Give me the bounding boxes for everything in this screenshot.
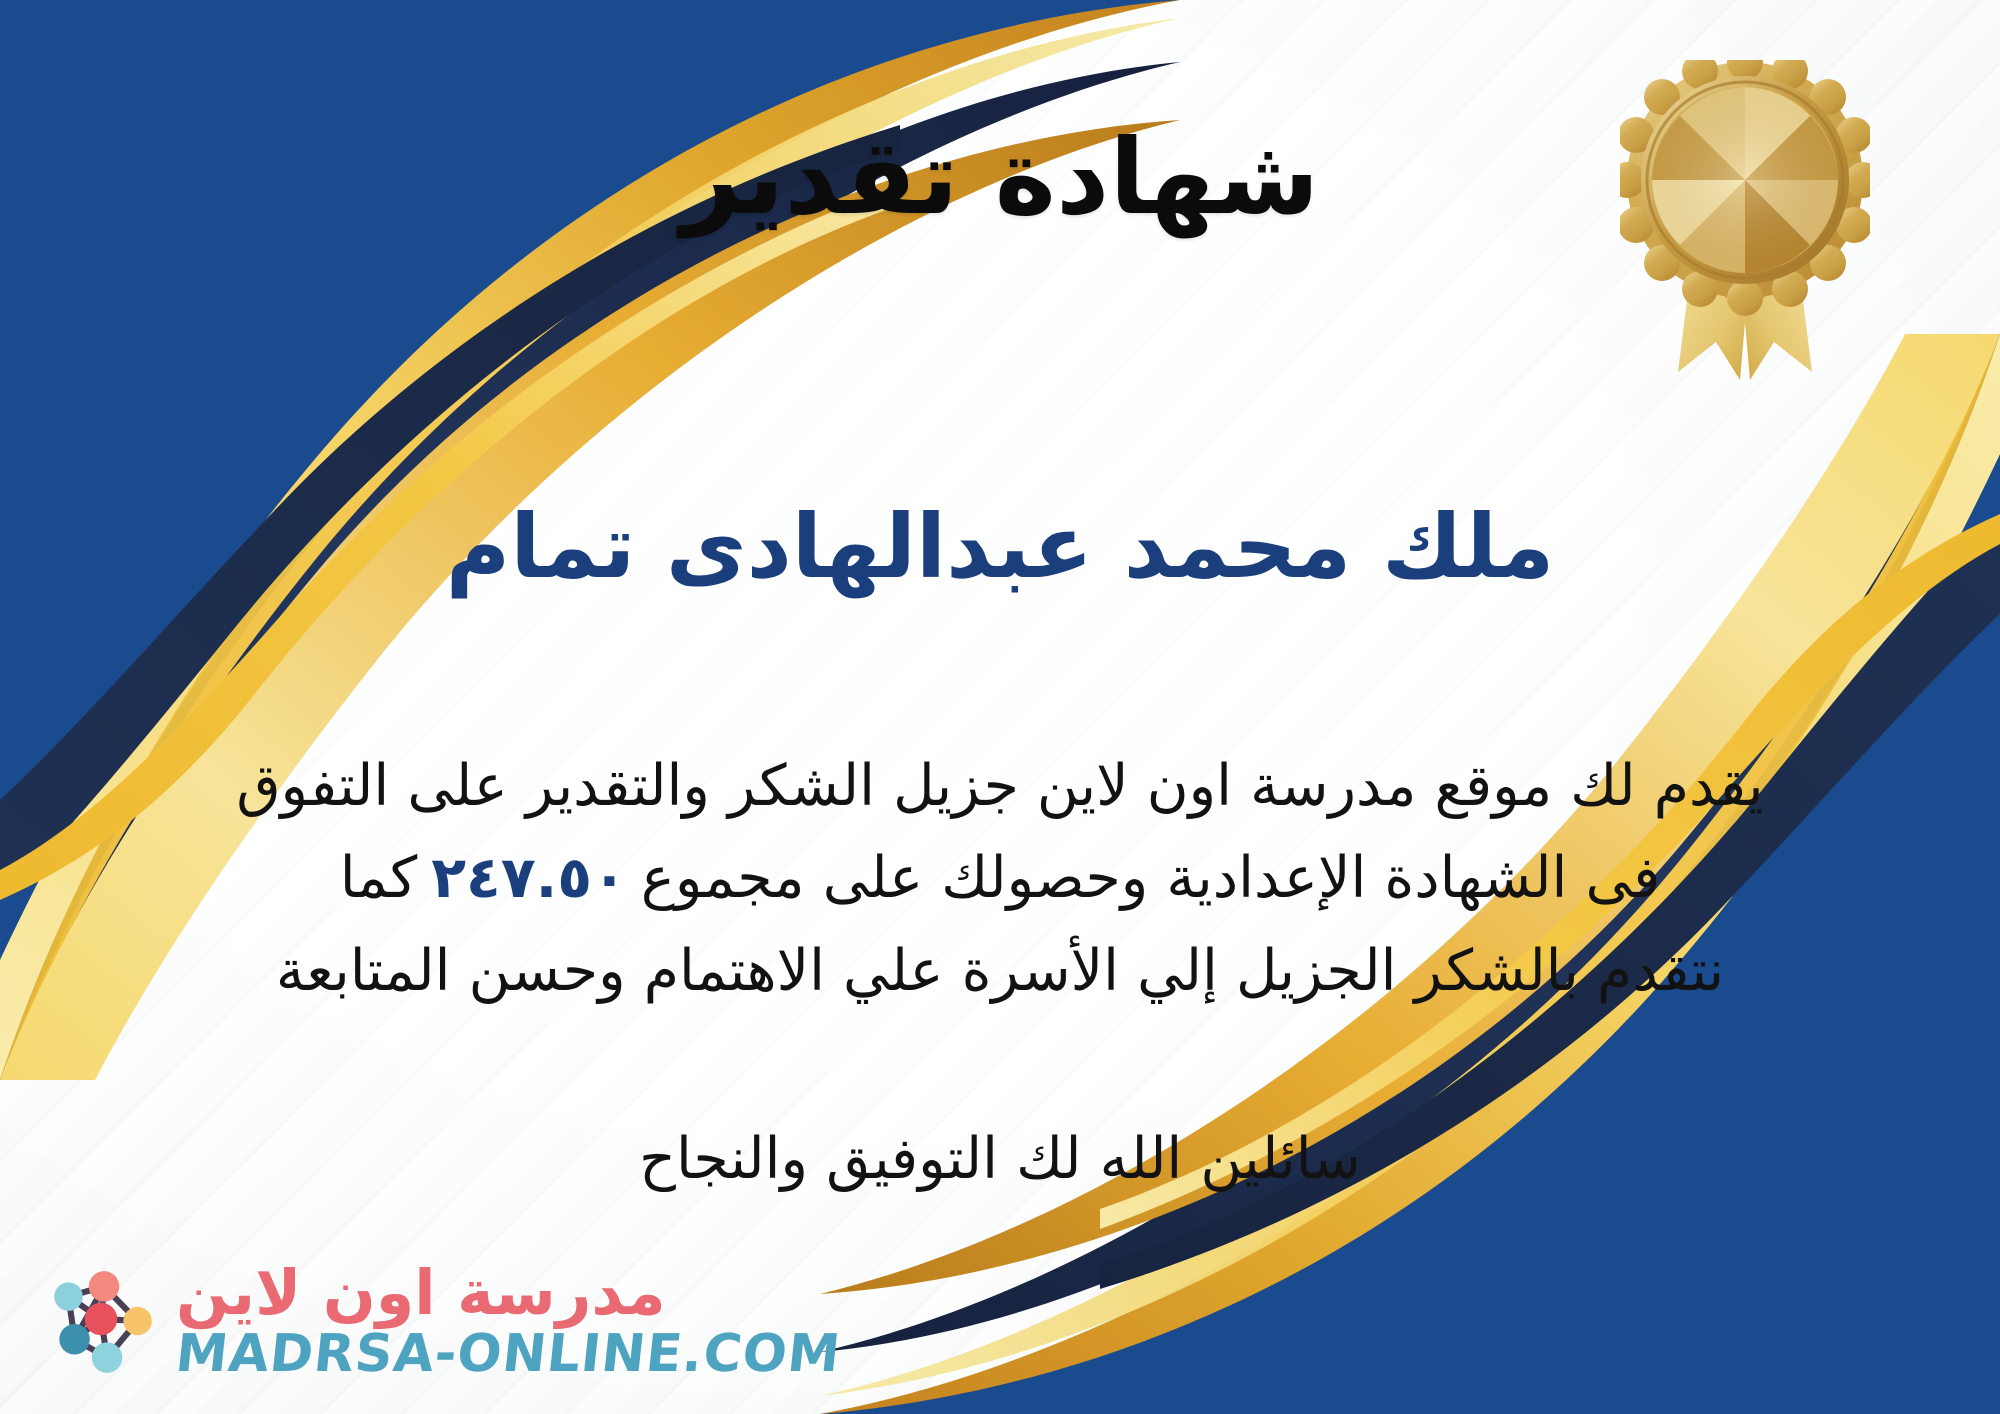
body-line-1: يقدم لك موقع مدرسة اون لاين جزيل الشكر و… [60,740,1940,832]
body-line-2-suffix: كما [340,845,417,911]
body-line-2: فى الشهادة الإعدادية وحصولك على مجموع٢٤٧… [60,832,1940,924]
recipient-name: ملك محمد عبدالهادى تمام [0,494,2000,600]
network-nodes [54,1271,152,1373]
network-nodes-icon [40,1260,162,1382]
medal-face [1652,87,1838,273]
certificate-canvas: شهادة تقدير ملك محمد عبدالهادى تمام يقدم… [0,0,2000,1414]
certificate-body: يقدم لك موقع مدرسة اون لاين جزيل الشكر و… [60,740,1940,1017]
gold-award-medal-icon [1620,60,1870,390]
brand-arabic-name: مدرسة اون لاين [176,1262,666,1324]
total-score-value: ٢٤٧.٥٠ [417,845,641,911]
body-line-2-prefix: فى الشهادة الإعدادية وحصولك على مجموع [641,845,1660,911]
closing-wish: سائلين الله لك التوفيق والنجاح [0,1120,2000,1200]
brand-domain: MADRSA-ONLINE.COM [173,1328,843,1380]
brand-logo[interactable]: مدرسة اون لاين MADRSA-ONLINE.COM [40,1260,841,1382]
brand-text-block: مدرسة اون لاين MADRSA-ONLINE.COM [176,1262,841,1380]
body-line-3: نتقدم بالشكر الجزيل إلي الأسرة علي الاهت… [60,925,1940,1017]
